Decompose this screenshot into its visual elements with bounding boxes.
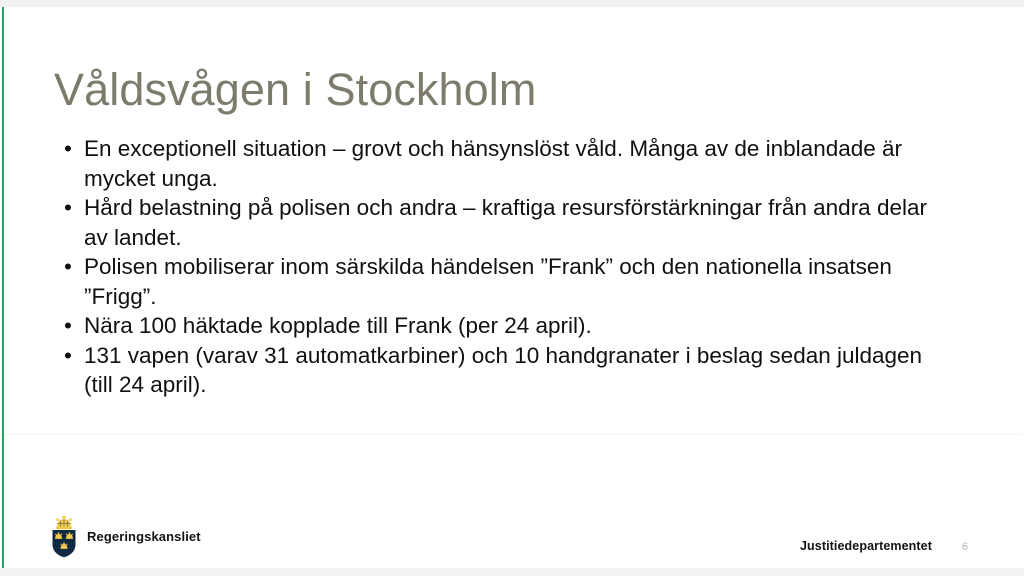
list-item: • Nära 100 häktade kopplade till Frank (… xyxy=(62,311,942,341)
bullet-glyph-icon: • xyxy=(64,134,72,164)
list-item-text: 131 vapen (varav 31 automatkarbiner) och… xyxy=(84,341,942,400)
bullet-glyph-icon: • xyxy=(64,341,72,371)
brand-name: Regeringskansliet xyxy=(87,529,201,544)
department-name: Justitiedepartementet xyxy=(800,539,932,553)
list-item: • Polisen mobiliserar inom särskilda hän… xyxy=(62,252,942,311)
list-item: • 131 vapen (varav 31 automatkarbiner) o… xyxy=(62,341,942,400)
left-accent-rule xyxy=(2,7,4,568)
list-item-text: Hård belastning på polisen och andra – k… xyxy=(84,193,942,252)
list-item-text: Polisen mobiliserar inom särskilda hände… xyxy=(84,252,942,311)
bullet-list: • En exceptionell situation – grovt och … xyxy=(62,134,942,400)
list-item-text: En exceptionell situation – grovt och hä… xyxy=(84,134,942,193)
list-item: • En exceptionell situation – grovt och … xyxy=(62,134,942,193)
footer-divider-rule xyxy=(4,434,1022,435)
swedish-three-crowns-shield-icon xyxy=(50,514,78,558)
slide-footer: Regeringskansliet Justitiedepartementet … xyxy=(0,508,1024,568)
list-item-text: Nära 100 häktade kopplade till Frank (pe… xyxy=(84,311,942,341)
presentation-slide: Våldsvågen i Stockholm • En exceptionell… xyxy=(0,0,1024,576)
slide-title: Våldsvågen i Stockholm xyxy=(54,63,536,117)
bullet-glyph-icon: • xyxy=(64,311,72,341)
page-number: 6 xyxy=(962,541,968,553)
bullet-glyph-icon: • xyxy=(64,252,72,282)
list-item: • Hård belastning på polisen och andra –… xyxy=(62,193,942,252)
letterbox-band-bottom xyxy=(0,568,1024,576)
letterbox-band-top xyxy=(0,0,1024,7)
bullet-glyph-icon: • xyxy=(64,193,72,223)
brand-lockup: Regeringskansliet xyxy=(50,514,201,558)
